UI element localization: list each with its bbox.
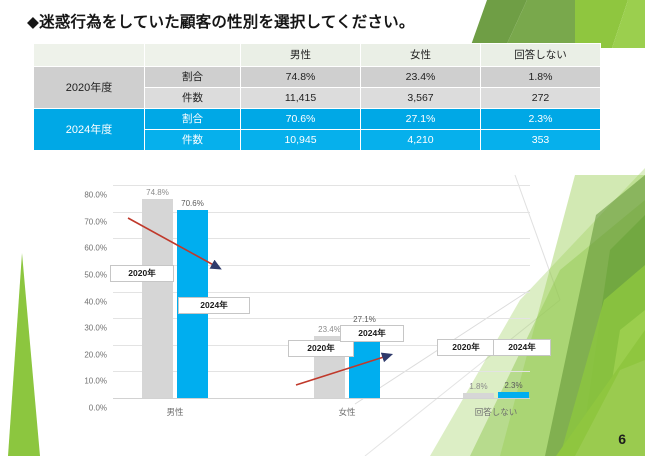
cell-2020-count-noanswer: 272 [481,88,601,109]
callout-2020年-男性: 2020年 [110,265,174,282]
cell-2020-count-female: 3,567 [361,88,481,109]
trend-arrow-male-down [128,218,219,268]
callout-2020年-女性: 2020年 [288,340,354,357]
callout-2020年-回答しない: 2020年 [437,339,495,356]
cell-2024-ratio-noanswer: 2.3% [481,109,601,130]
data-label-2024年-男性: 70.6% [177,199,208,208]
data-label-2024年-女性: 27.1% [349,315,380,324]
header-cell-blank-year [34,44,145,67]
row-year-2020: 2020年度 [34,67,145,109]
cell-2020-count-male: 11,415 [241,88,361,109]
table-row: 2020年度 割合 74.8% 23.4% 1.8% [34,67,601,88]
slide: ◆迷惑行為をしていた顧客の性別を選択してください。 男性 女性 回答しない 20… [0,0,645,456]
callout-2024年-回答しない: 2024年 [493,339,551,356]
cell-2024-ratio-female: 27.1% [361,109,481,130]
row-kind-ratio-2020: 割合 [145,67,241,88]
row-kind-count-2024: 件数 [145,130,241,151]
cell-2020-ratio-noanswer: 1.8% [481,67,601,88]
cell-2020-ratio-male: 74.8% [241,67,361,88]
trend-arrow-layer [0,175,645,415]
data-label-2020年-男性: 74.8% [142,188,173,197]
deco-band-edge-top [612,0,645,48]
page-number: 6 [618,431,626,447]
header-cell-male: 男性 [241,44,361,67]
row-kind-ratio-2024: 割合 [145,109,241,130]
cell-2024-count-noanswer: 353 [481,130,601,151]
header-cell-blank-kind [145,44,241,67]
x-axis-label-男性: 男性 [135,406,215,418]
deco-band-dark-top [470,0,527,48]
deco-band-mid-top [505,0,575,48]
cell-2024-ratio-male: 70.6% [241,109,361,130]
cell-2020-ratio-female: 23.4% [361,67,481,88]
deco-band-bright-top [575,0,628,48]
x-axis-label-女性: 女性 [307,406,387,418]
summary-table: 男性 女性 回答しない 2020年度 割合 74.8% 23.4% 1.8% 件… [33,43,601,151]
callout-2024年-女性: 2024年 [340,325,404,342]
cell-2024-count-female: 4,210 [361,130,481,151]
data-label-2024年-回答しない: 2.3% [498,381,529,390]
header-cell-noanswer: 回答しない [481,44,601,67]
x-axis-label-回答しない: 回答しない [456,406,536,418]
cell-2024-count-male: 10,945 [241,130,361,151]
bar-chart: 0.0%10.0%20.0%30.0%40.0%50.0%60.0%70.0%8… [0,175,645,415]
header-cell-female: 女性 [361,44,481,67]
row-kind-count-2020: 件数 [145,88,241,109]
table-row: 2024年度 割合 70.6% 27.1% 2.3% [34,109,601,130]
row-year-2024: 2024年度 [34,109,145,151]
page-title: ◆迷惑行為をしていた顧客の性別を選択してください。 [27,10,415,32]
callout-2024年-男性: 2024年 [178,297,250,314]
data-label-2020年-回答しない: 1.8% [463,382,494,391]
table-header-row: 男性 女性 回答しない [34,44,601,67]
trend-arrow-female-up [296,355,390,385]
